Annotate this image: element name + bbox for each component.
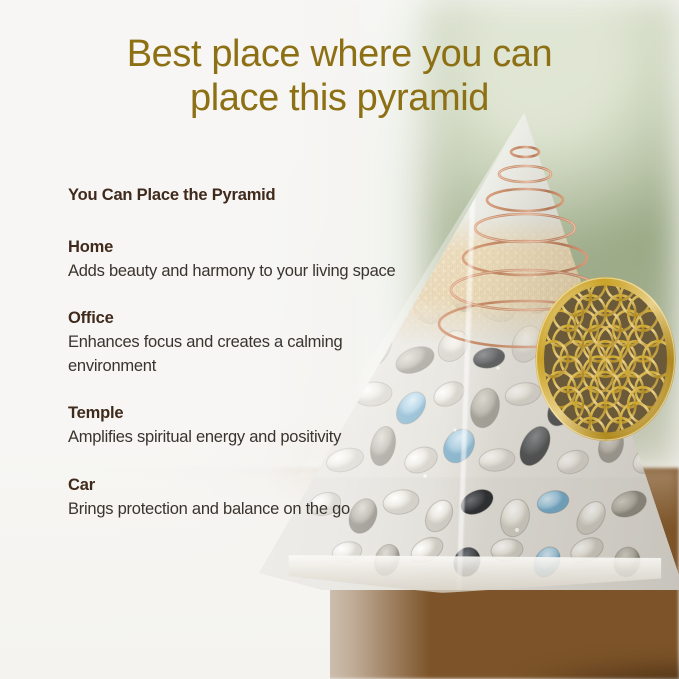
list-item-desc-home: Adds beauty and harmony to your living s…	[68, 260, 398, 283]
product-infographic: Best place where you can place this pyra…	[0, 0, 679, 679]
list-item: Home Adds beauty and harmony to your liv…	[68, 238, 398, 283]
list-item-desc-car: Brings protection and balance on the go	[68, 498, 398, 521]
list-item-title-car: Car	[68, 476, 398, 495]
list-item-title-temple: Temple	[68, 404, 398, 423]
list-heading: You Can Place the Pyramid	[68, 186, 398, 205]
page-title: Best place where you can place this pyra…	[0, 32, 679, 120]
list-item-desc-office: Enhances focus and creates a calming env…	[68, 331, 398, 378]
placement-list: You Can Place the Pyramid Home Adds beau…	[68, 186, 398, 521]
list-item: Car Brings protection and balance on the…	[68, 476, 398, 521]
list-item: Office Enhances focus and creates a calm…	[68, 309, 398, 378]
pyramid-contact-shadow	[485, 645, 679, 679]
list-item-desc-temple: Amplifies spiritual energy and positivit…	[68, 426, 398, 449]
title-line-2: place this pyramid	[60, 76, 619, 120]
list-item-title-office: Office	[68, 309, 398, 328]
list-item-title-home: Home	[68, 238, 398, 257]
list-item: Temple Amplifies spiritual energy and po…	[68, 404, 398, 449]
flower-of-life-icon	[533, 275, 678, 443]
title-line-1: Best place where you can	[127, 33, 553, 75]
